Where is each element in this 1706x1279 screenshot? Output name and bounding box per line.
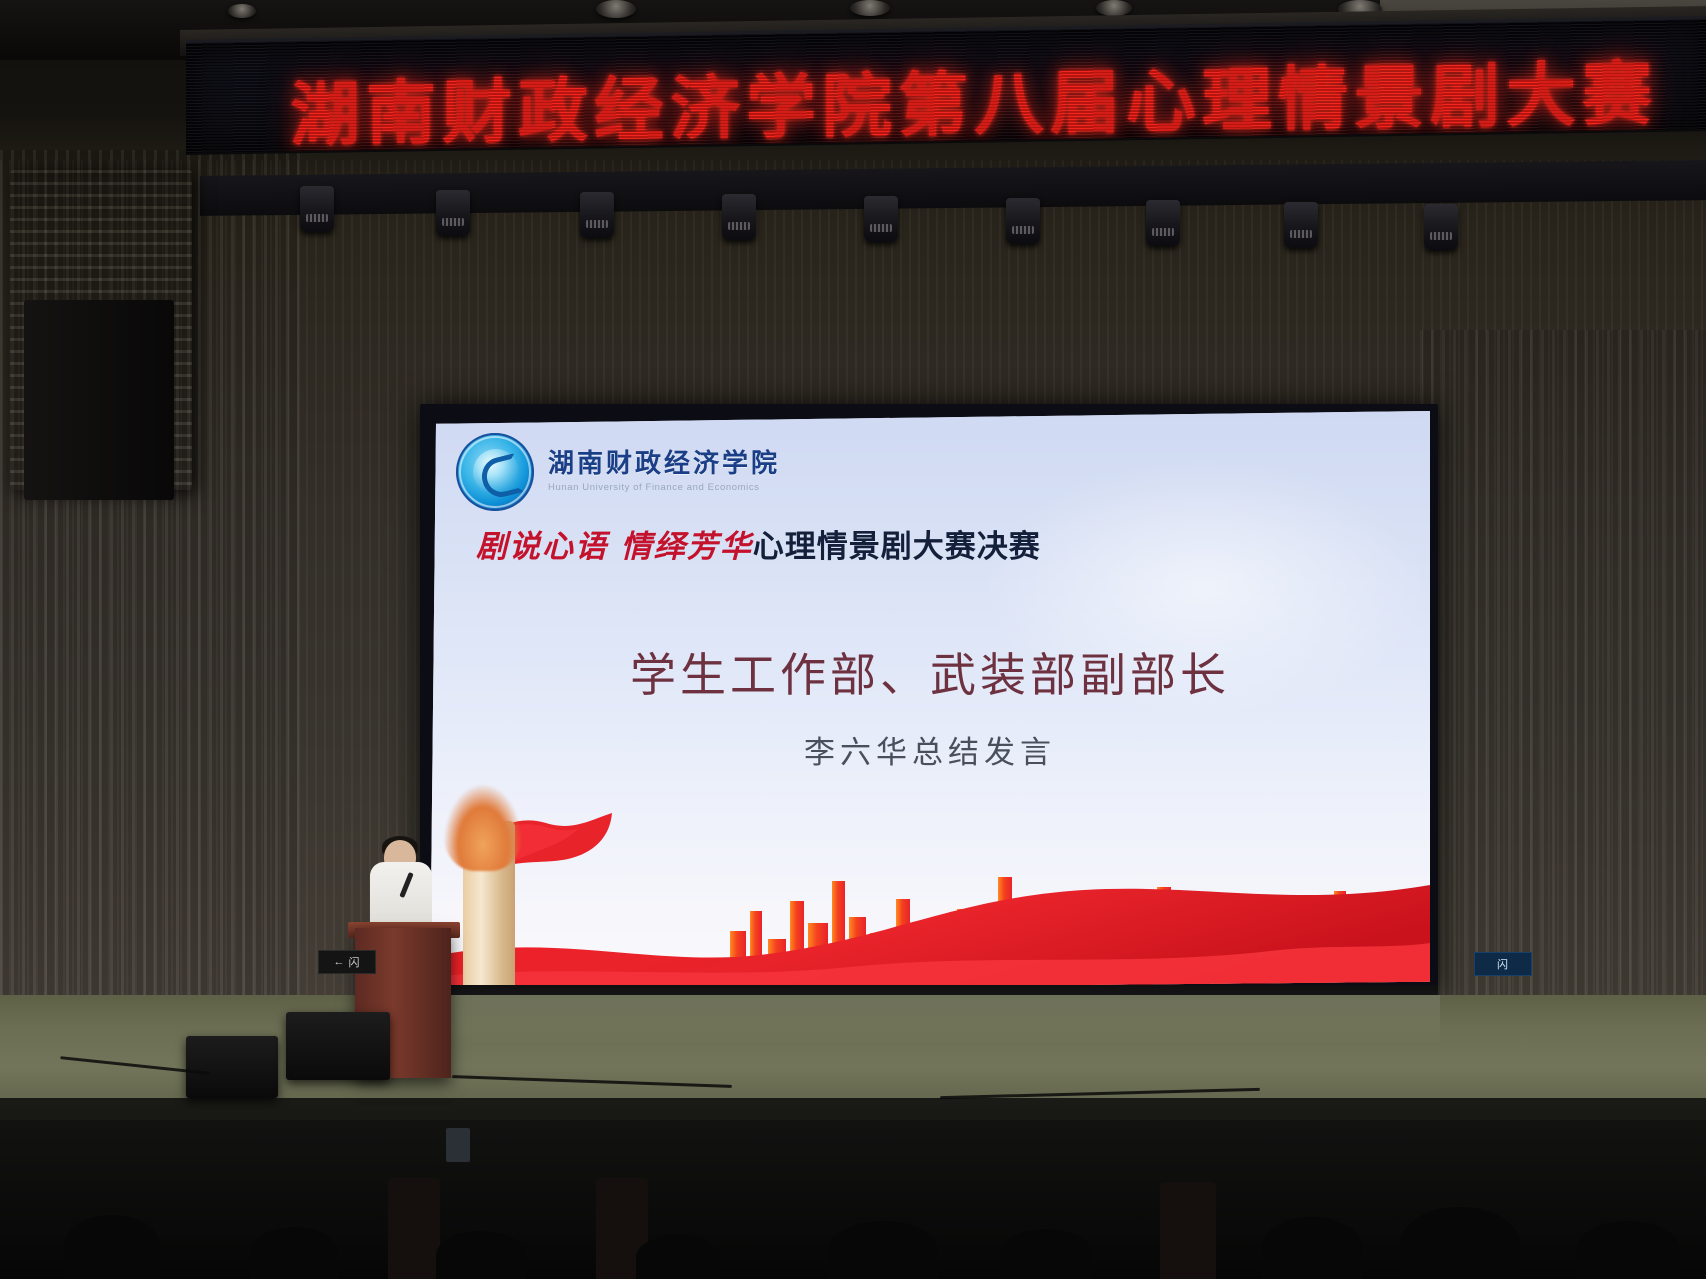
slide-artwork [430, 781, 1430, 991]
line-array-pa-speaker [24, 300, 174, 500]
audience-phone-screen [446, 1128, 470, 1162]
slide-headline: 剧说心语 情绎芳华心理情景剧大赛决赛 [476, 521, 1041, 566]
exit-sign-left-label: 闪 [349, 954, 361, 970]
recessed-ceiling-light [850, 0, 890, 16]
recessed-ceiling-light [228, 4, 256, 18]
university-seal-icon [456, 433, 534, 511]
exit-sign-left: ← 闪 [318, 950, 376, 974]
audience-head [250, 1227, 338, 1279]
audience-head [64, 1215, 160, 1279]
moving-head-stage-light [864, 196, 898, 242]
recessed-ceiling-light [1096, 0, 1132, 16]
audience-head [1400, 1207, 1520, 1279]
moving-head-stage-light [1424, 204, 1458, 250]
audience-head [636, 1235, 720, 1279]
torch-flame-graphic [444, 785, 522, 871]
projection-screen: 湖南财政经济学院 Hunan University of Finance and… [430, 411, 1430, 991]
moving-head-stage-light [580, 192, 614, 238]
wall-right-panel [1420, 330, 1706, 1090]
exit-sign-right-label: 闪 [1497, 956, 1509, 972]
university-logo: 湖南财政经济学院 Hunan University of Finance and… [456, 433, 780, 511]
auditorium-scene: 湖南财政经济学院第八届心理情景剧大赛 湖南财政经济学院 Hunan Univer… [0, 0, 1706, 1279]
stage-floor-reflection [430, 995, 1440, 1045]
audience-head [1000, 1229, 1092, 1279]
audience-head [828, 1221, 938, 1279]
audience-silhouettes [0, 1120, 1706, 1279]
chair-back [388, 1178, 440, 1279]
exit-arrow-icon: ← [334, 956, 346, 968]
stage-monitor-speaker [186, 1036, 278, 1098]
university-name-cn: 湖南财政经济学院 [548, 451, 780, 478]
chair-back [1160, 1182, 1216, 1279]
audience-head [436, 1231, 526, 1279]
stage-monitor-speaker [286, 1012, 390, 1080]
moving-head-stage-light [1284, 202, 1318, 248]
moving-head-stage-light [436, 190, 470, 236]
moving-head-stage-light [1006, 198, 1040, 244]
moving-head-stage-light [300, 186, 334, 232]
audience-head [1576, 1221, 1680, 1279]
university-name-en: Hunan University of Finance and Economic… [548, 482, 780, 493]
slide-headline-slogan: 剧说心语 情绎芳华 [476, 529, 753, 565]
led-banner: 湖南财政经济学院第八届心理情景剧大赛 [186, 16, 1706, 155]
slide-title: 学生工作部、武装部副部长 [430, 639, 1430, 705]
recessed-ceiling-light [596, 0, 636, 18]
moving-head-stage-light [1146, 200, 1180, 246]
slide-subtitle: 李六华总结发言 [430, 727, 1430, 772]
exit-sign-right: 闪 [1474, 952, 1532, 976]
audience-head [1262, 1217, 1362, 1279]
moving-head-stage-light [722, 194, 756, 240]
slide-headline-event: 心理情景剧大赛决赛 [753, 529, 1041, 565]
